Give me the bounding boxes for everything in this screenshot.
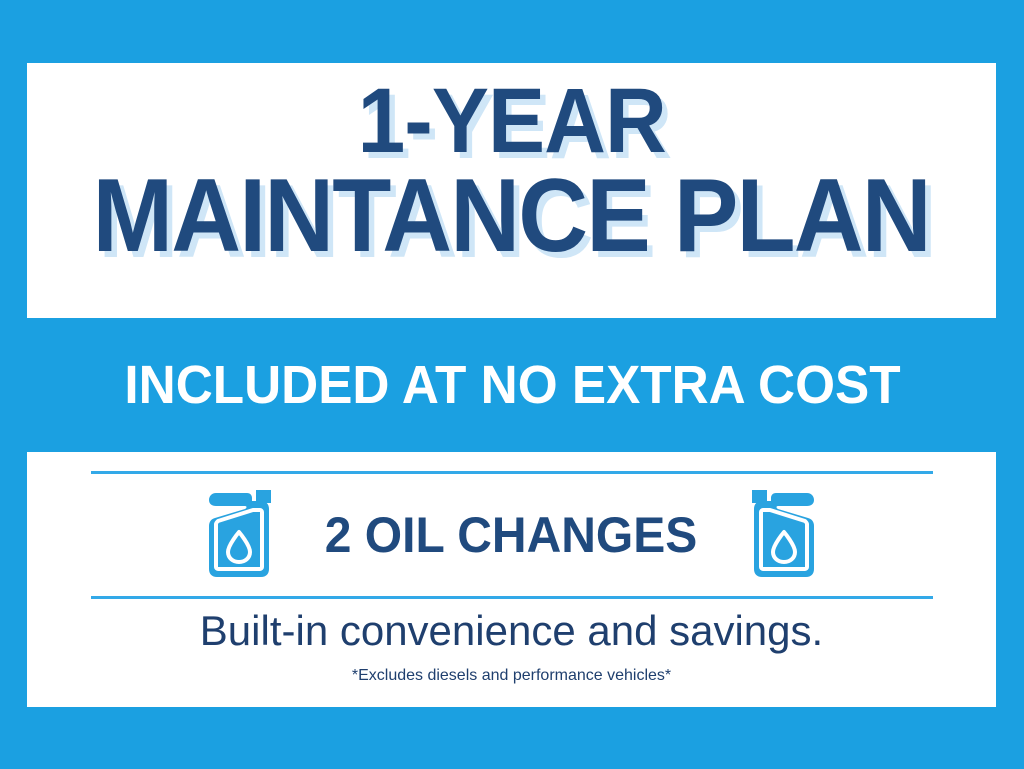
feature-row: 2 OIL CHANGES [27,476,996,594]
oil-jug-icon [201,488,275,582]
divider-bottom [91,596,933,599]
details-panel: 2 OIL CHANGES Built-in convenience and s… [27,452,996,707]
subtitle-text: INCLUDED AT NO EXTRA COST [124,354,900,416]
promo-poster: 1-YEAR MAINTANCE PLAN INCLUDED AT NO EXT… [0,0,1024,769]
headline-line-1: 1-YEAR [357,77,665,165]
fineprint-disclaimer: *Excludes diesels and performance vehicl… [27,667,996,685]
tagline: Built-in convenience and savings. [27,607,996,655]
headline-line-2: MAINTANCE PLAN [93,167,930,267]
headline-panel: 1-YEAR MAINTANCE PLAN [27,63,996,318]
divider-top [91,471,933,474]
oil-jug-icon [748,488,822,582]
subtitle-band: INCLUDED AT NO EXTRA COST [0,318,1024,452]
feature-label: 2 OIL CHANGES [325,506,698,564]
